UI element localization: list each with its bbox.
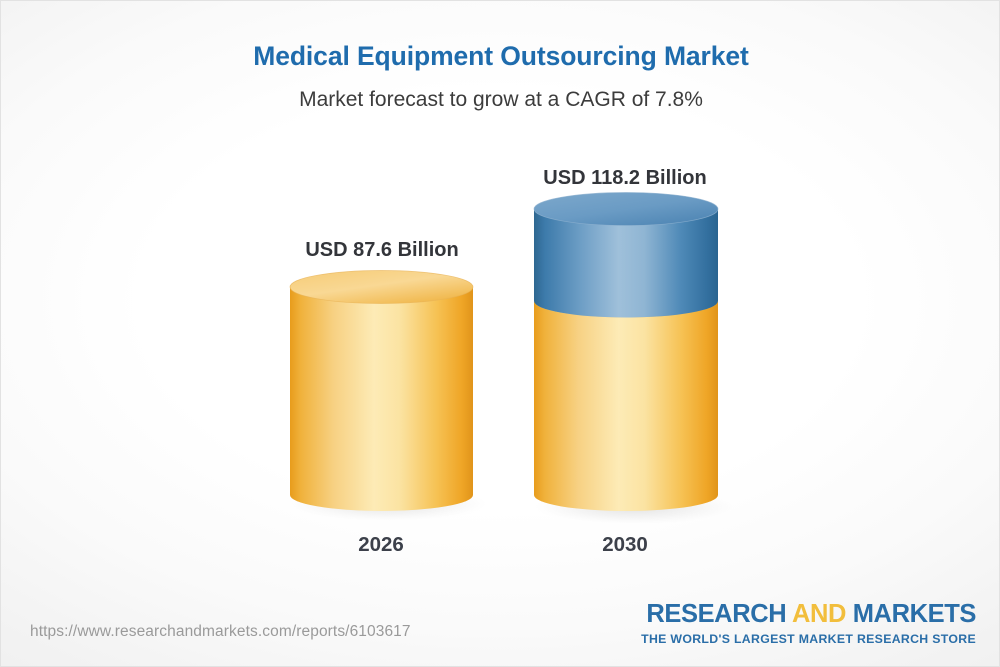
logo-wordmark: RESEARCH AND MARKETS (641, 602, 976, 628)
logo-word-and: AND (792, 600, 846, 628)
chart-canvas: Medical Equipment Outsourcing Market Mar… (0, 0, 1000, 667)
source-url[interactable]: https://www.researchandmarkets.com/repor… (30, 623, 411, 641)
logo-word-research: RESEARCH (646, 600, 792, 628)
value-label-2026: USD 87.6 Billion (282, 239, 482, 262)
value-label-2030: USD 118.2 Billion (525, 167, 725, 190)
category-label-2030: 2030 (532, 533, 718, 557)
chart-plot-area: USD 87.6 Billion (1, 1, 1000, 667)
cylinder-bar-2030 (532, 195, 724, 523)
logo-tagline: THE WORLD'S LARGEST MARKET RESEARCH STOR… (641, 632, 976, 646)
category-label-2026: 2026 (289, 533, 473, 557)
cylinder-bar-2026 (289, 273, 479, 523)
logo-word-markets: MARKETS (846, 600, 976, 628)
research-and-markets-logo[interactable]: RESEARCH AND MARKETS THE WORLD'S LARGEST… (641, 602, 976, 646)
